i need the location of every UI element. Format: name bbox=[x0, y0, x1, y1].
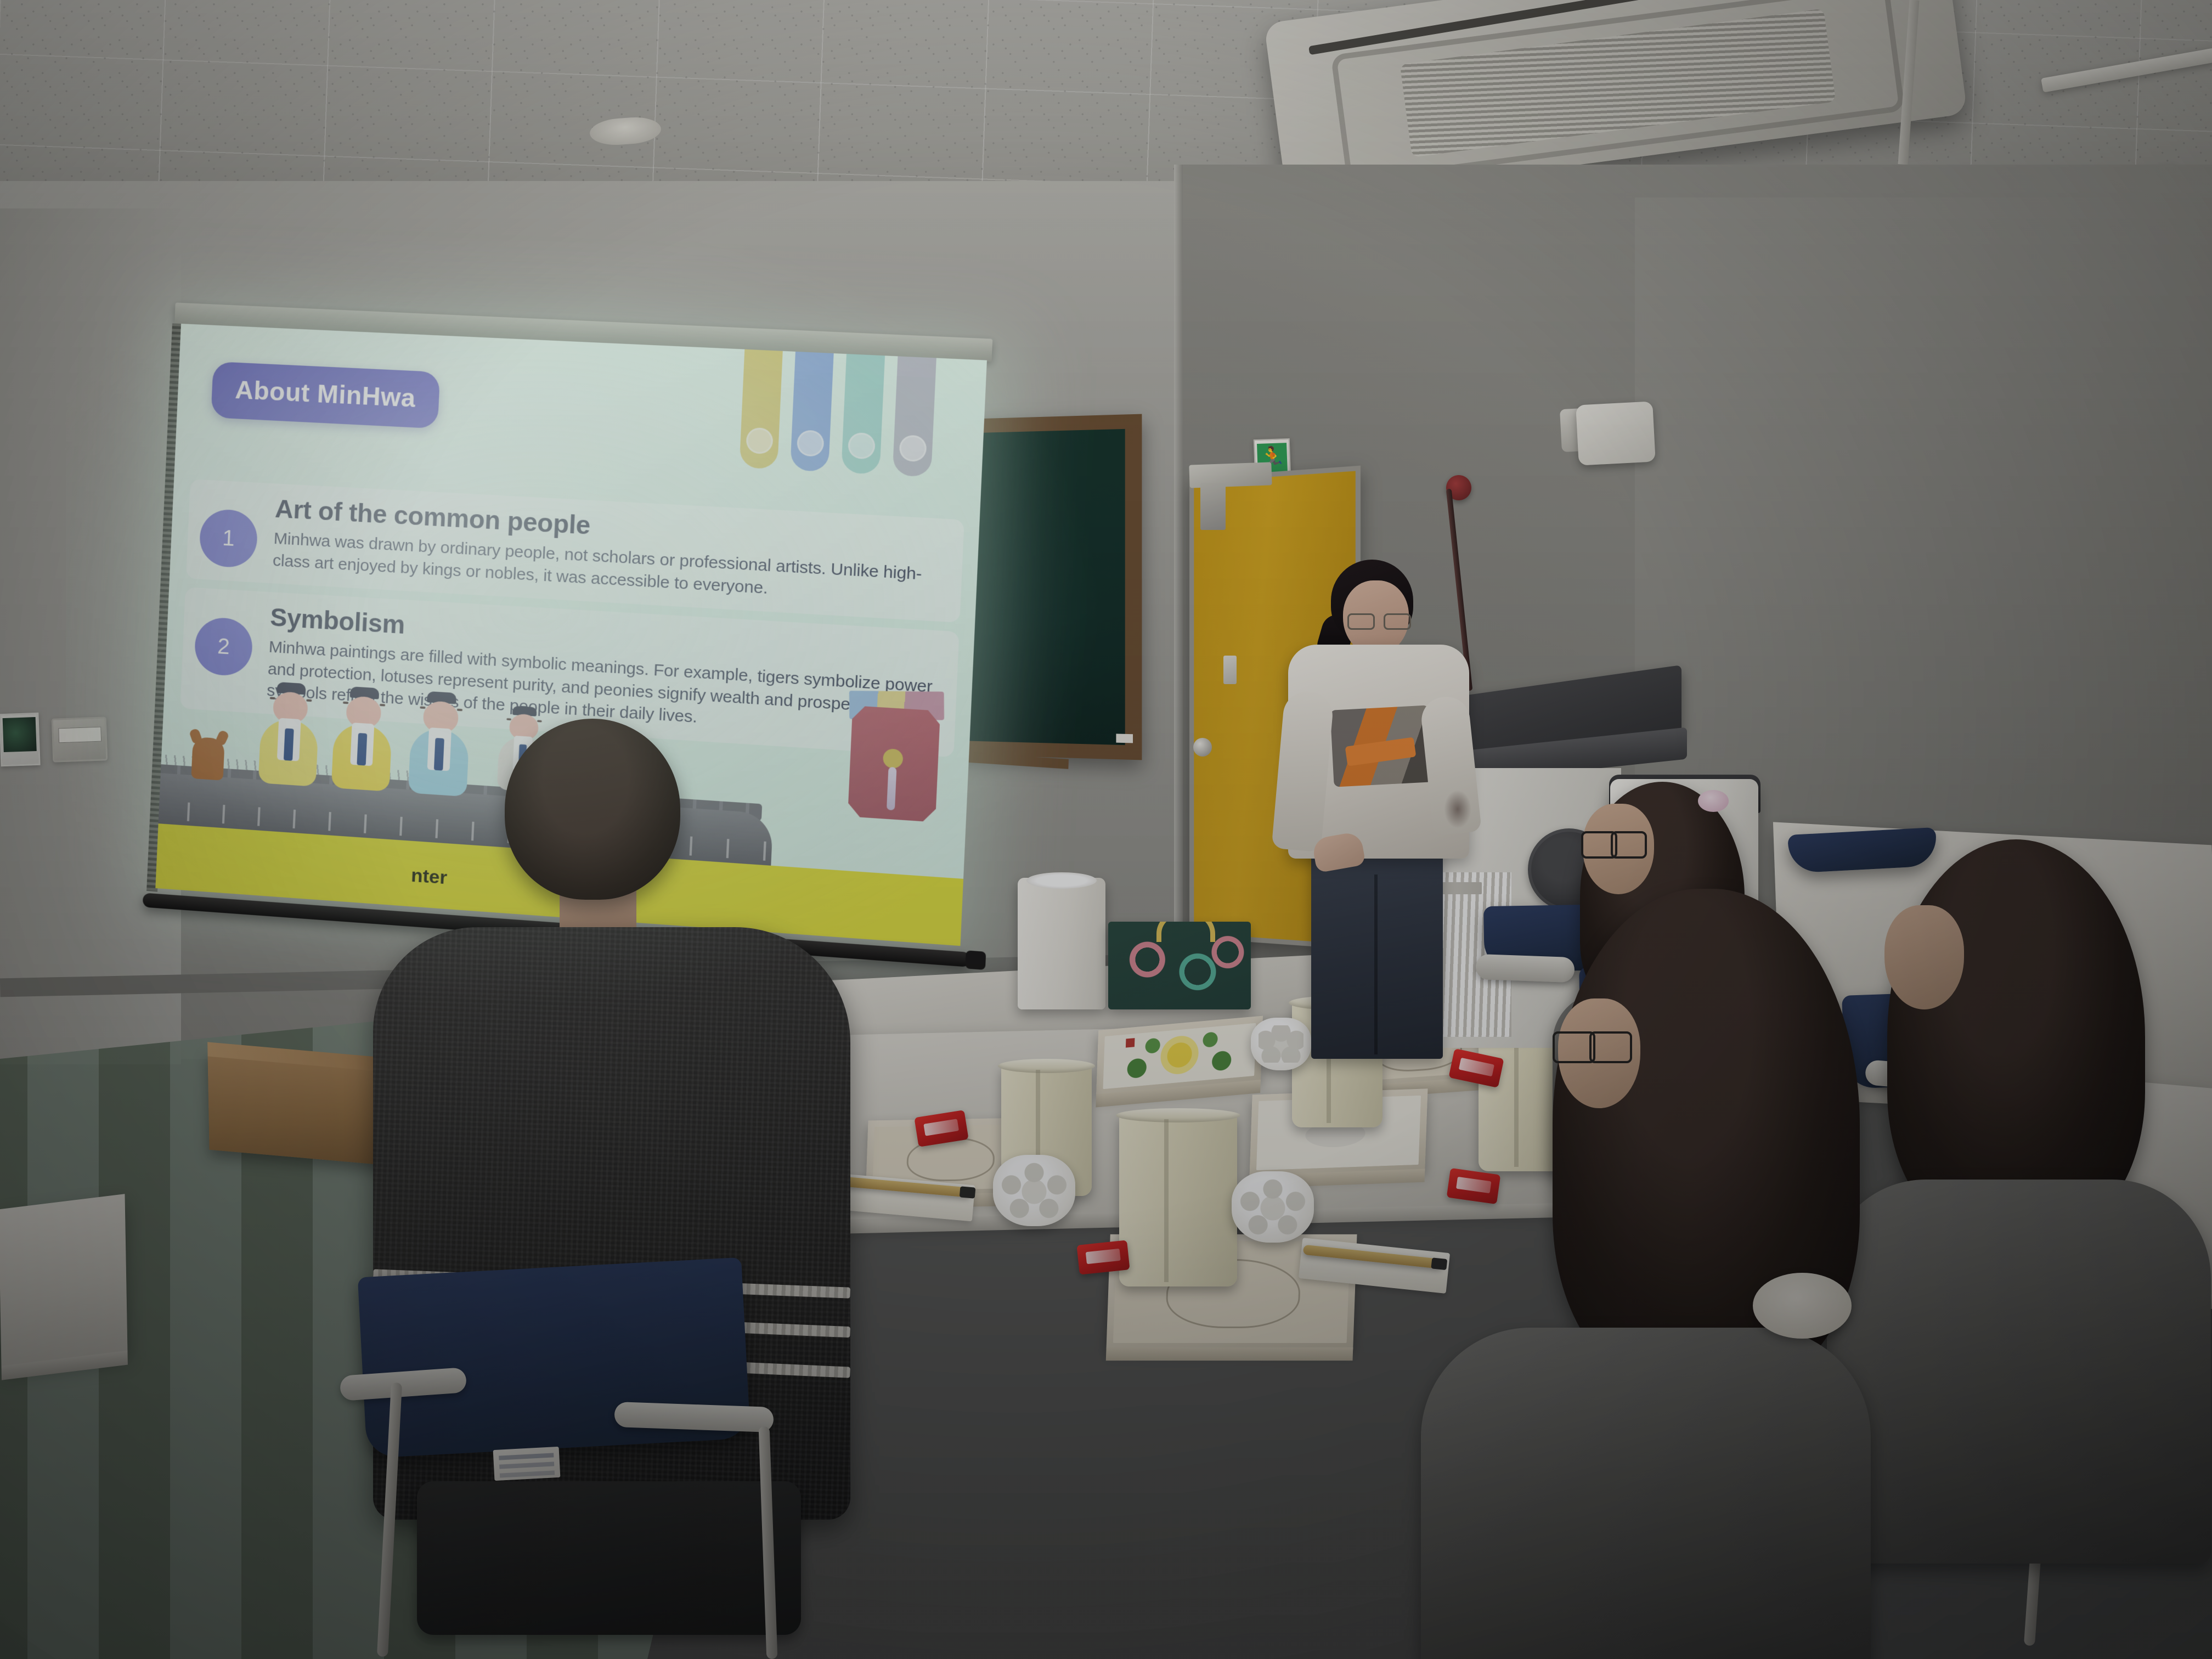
peony-flower-painting bbox=[1103, 1023, 1256, 1090]
wooden-step-platform bbox=[207, 1051, 390, 1165]
candy-wrapper bbox=[1076, 1240, 1130, 1274]
glasses-icon bbox=[1553, 1031, 1632, 1059]
slide-point-1: 1 Art of the common people Minhwa was dr… bbox=[170, 488, 979, 611]
chalkboard-surface bbox=[957, 429, 1125, 745]
slide-title-badge: About MinHwa bbox=[211, 362, 440, 429]
door-handle-icon[interactable] bbox=[1193, 738, 1212, 757]
slide-footer-text: nter bbox=[410, 865, 447, 889]
student-face bbox=[1884, 905, 1964, 1009]
collar-icon bbox=[277, 718, 301, 761]
wall-control-panel[interactable] bbox=[52, 716, 108, 762]
glasses-icon bbox=[1581, 831, 1647, 854]
robe-icon bbox=[331, 723, 392, 792]
flower-palette bbox=[1251, 1018, 1311, 1070]
hair-scrunchie bbox=[1753, 1273, 1852, 1339]
tshirt-graphic bbox=[1330, 705, 1432, 787]
glasses-icon bbox=[1347, 613, 1411, 627]
ac-grille bbox=[1400, 9, 1836, 157]
framed-picture bbox=[0, 713, 41, 766]
hanbok-figure-icon bbox=[258, 681, 320, 787]
palette-wells bbox=[1259, 1025, 1304, 1063]
green-tote-bag bbox=[1108, 922, 1251, 1009]
paper-towel-roll bbox=[1018, 878, 1105, 1009]
palette-wells bbox=[1001, 1163, 1068, 1218]
table-edge bbox=[1, 1351, 127, 1380]
classroom-table bbox=[0, 1194, 128, 1368]
robe-icon bbox=[408, 727, 470, 797]
classroom-photo: 🏃 About MinHwa bbox=[0, 0, 2212, 1659]
artist-seal-icon bbox=[1126, 1038, 1135, 1047]
flower-palette bbox=[1232, 1171, 1314, 1243]
student-hair bbox=[1887, 839, 2145, 1234]
left-wall bbox=[0, 208, 181, 1064]
hair-tie bbox=[1698, 790, 1729, 812]
hanbok-figure-icon bbox=[408, 690, 471, 797]
wall-speaker-icon bbox=[1576, 401, 1656, 465]
chair-asset-label bbox=[493, 1447, 561, 1481]
palette-wells bbox=[1239, 1179, 1306, 1235]
board-side bbox=[1106, 1347, 1353, 1361]
water-cup bbox=[1119, 1114, 1237, 1286]
door-hinge bbox=[1200, 483, 1226, 530]
arm-tattoo bbox=[1444, 790, 1471, 828]
dog-icon bbox=[191, 737, 224, 781]
flower-palette bbox=[993, 1155, 1075, 1226]
wooden-painting-board bbox=[1096, 1016, 1263, 1097]
chair-armrest bbox=[1475, 954, 1575, 983]
student-top bbox=[1421, 1328, 1871, 1659]
hanbok-figure-icon bbox=[331, 686, 394, 792]
door-access-switch[interactable] bbox=[1223, 656, 1237, 684]
student-hair bbox=[505, 719, 680, 900]
robe-icon bbox=[258, 718, 319, 787]
collar-icon bbox=[350, 723, 374, 766]
student-top bbox=[1827, 1180, 2211, 1564]
collar-icon bbox=[427, 727, 452, 771]
wall-corner bbox=[1174, 165, 1183, 1015]
chalkboard-label bbox=[1116, 733, 1133, 743]
chair-seat bbox=[417, 1481, 801, 1635]
